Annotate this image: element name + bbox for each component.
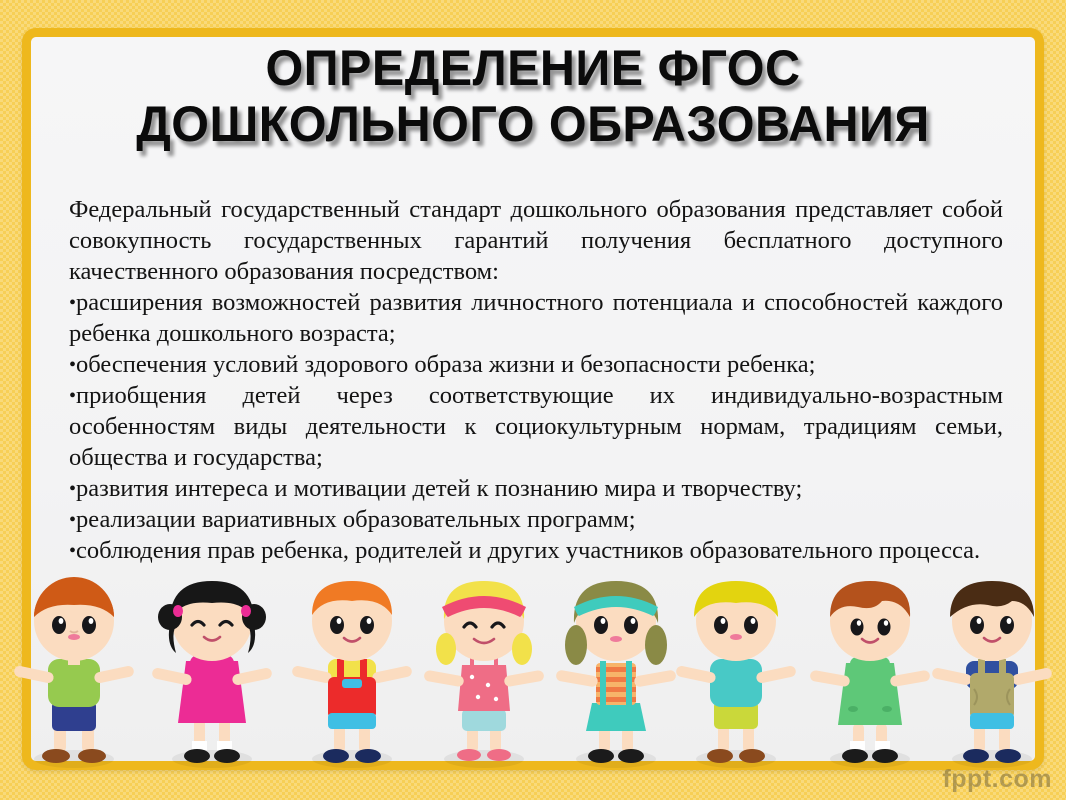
- body-bullet-4-text: развития интереса и мотивации детей к по…: [76, 475, 802, 502]
- bullet-marker: •: [69, 354, 76, 376]
- slide: ОПРЕДЕЛЕНИЕ ФГОС ДОШКОЛЬНОГО ОБРАЗОВАНИЯ…: [0, 0, 1066, 800]
- title-line-2: ДОШКОЛЬНОГО ОБРАЗОВАНИЯ: [56, 99, 1010, 149]
- bullet-marker: •: [69, 385, 76, 407]
- body-bullet-1-text: расширения возможностей развития личност…: [69, 289, 1003, 347]
- body-bullet-6-text: соблюдения прав ребенка, родителей и дру…: [76, 537, 980, 564]
- bullet-marker: •: [69, 478, 76, 500]
- bullet-marker: •: [69, 509, 76, 531]
- slide-frame: ОПРЕДЕЛЕНИЕ ФГОС ДОШКОЛЬНОГО ОБРАЗОВАНИЯ…: [22, 28, 1044, 770]
- body-bullet-1: •расширения возможностей развития личнос…: [69, 288, 1003, 350]
- bullet-marker: •: [69, 292, 76, 314]
- fppt-watermark: fppt.com: [942, 765, 1052, 794]
- page-title: ОПРЕДЕЛЕНИЕ ФГОС ДОШКОЛЬНОГО ОБРАЗОВАНИЯ: [31, 43, 1035, 149]
- body-bullet-2-text: обеспечения условий здорового образа жиз…: [76, 351, 815, 378]
- body-paragraph-intro: Федеральный государственный стандарт дош…: [69, 195, 1003, 288]
- content-panel: ОПРЕДЕЛЕНИЕ ФГОС ДОШКОЛЬНОГО ОБРАЗОВАНИЯ…: [31, 37, 1035, 761]
- body-bullet-5-text: реализации вариативных образовательных п…: [76, 506, 636, 533]
- body-bullet-3-text: приобщения детей через соответствующие и…: [69, 382, 1003, 471]
- title-line-1: ОПРЕДЕЛЕНИЕ ФГОС: [56, 43, 1010, 93]
- body-text: Федеральный государственный стандарт дош…: [69, 195, 1003, 567]
- body-bullet-6: •соблюдения прав ребенка, родителей и др…: [69, 536, 1003, 567]
- body-bullet-4: •развития интереса и мотивации детей к п…: [69, 474, 1003, 505]
- body-bullet-5: •реализации вариативных образовательных …: [69, 505, 1003, 536]
- bullet-marker: •: [69, 540, 76, 562]
- body-bullet-2: •обеспечения условий здорового образа жи…: [69, 350, 1003, 381]
- body-bullet-3: •приобщения детей через соответствующие …: [69, 381, 1003, 474]
